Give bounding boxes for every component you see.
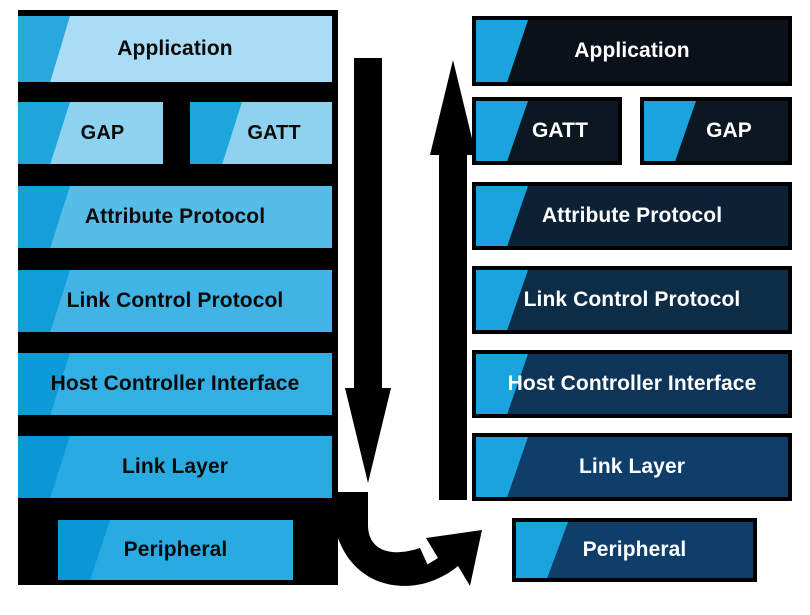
left-layer-label: Host Controller Interface bbox=[51, 372, 300, 396]
layer-tab-icon bbox=[644, 101, 696, 161]
layer-tab-icon bbox=[18, 270, 70, 332]
right-layer-peripheral[interactable]: Peripheral bbox=[512, 518, 757, 582]
right-layer-label: Host Controller Interface bbox=[508, 372, 757, 396]
layer-tab-icon bbox=[476, 186, 528, 246]
left-layer-gatt[interactable]: GATT bbox=[190, 102, 332, 164]
left-layer-application[interactable]: Application bbox=[18, 16, 332, 82]
layer-tab-icon bbox=[476, 101, 528, 161]
layer-tab-icon bbox=[516, 522, 568, 578]
right-layer-application[interactable]: Application bbox=[472, 16, 792, 86]
right-layer-label: Peripheral bbox=[583, 538, 687, 562]
left-layer-host-controller-interface[interactable]: Host Controller Interface bbox=[18, 353, 332, 415]
right-layer-label: GAP bbox=[706, 119, 752, 143]
layer-tab-icon bbox=[18, 102, 70, 164]
left-layer-gap[interactable]: GAP bbox=[18, 102, 163, 164]
layer-tab-icon bbox=[476, 20, 528, 82]
left-layer-label: GAP bbox=[81, 122, 125, 145]
layer-tab-icon bbox=[18, 16, 70, 82]
right-layer-attribute-protocol[interactable]: Attribute Protocol bbox=[472, 182, 792, 250]
right-layer-label: Link Layer bbox=[579, 455, 685, 479]
right-layer-link-layer[interactable]: Link Layer bbox=[472, 433, 792, 501]
layer-tab-icon bbox=[190, 102, 242, 164]
left-layer-label: GATT bbox=[247, 122, 300, 145]
layer-tab-icon bbox=[476, 437, 528, 497]
right-layer-host-controller-interface[interactable]: Host Controller Interface bbox=[472, 350, 792, 418]
layer-tab-icon bbox=[58, 520, 110, 580]
left-layer-link-layer[interactable]: Link Layer bbox=[18, 436, 332, 498]
right-layer-link-control-protocol[interactable]: Link Control Protocol bbox=[472, 266, 792, 334]
right-layer-label: GATT bbox=[532, 119, 588, 143]
left-layer-label: Application bbox=[117, 37, 232, 61]
right-layer-label: Link Control Protocol bbox=[524, 288, 741, 312]
right-layer-label: Attribute Protocol bbox=[542, 204, 722, 228]
layer-tab-icon bbox=[18, 186, 70, 248]
ble-stack-diagram: Application GAP GATT Attribute Protocol … bbox=[0, 0, 810, 615]
layer-tab-icon bbox=[476, 270, 528, 330]
downward-flow-arrow bbox=[345, 58, 391, 483]
left-layer-label: Peripheral bbox=[124, 538, 228, 562]
left-layer-peripheral[interactable]: Peripheral bbox=[58, 520, 293, 580]
right-layer-label: Application bbox=[574, 39, 689, 63]
right-layer-gap[interactable]: GAP bbox=[640, 97, 792, 165]
layer-tab-icon bbox=[18, 436, 70, 498]
left-layer-label: Link Layer bbox=[122, 455, 228, 479]
right-layer-gatt[interactable]: GATT bbox=[472, 97, 622, 165]
left-layer-attribute-protocol[interactable]: Attribute Protocol bbox=[18, 186, 332, 248]
left-layer-label: Attribute Protocol bbox=[85, 205, 265, 229]
left-layer-label: Link Control Protocol bbox=[67, 289, 284, 313]
left-layer-link-control-protocol[interactable]: Link Control Protocol bbox=[18, 270, 332, 332]
